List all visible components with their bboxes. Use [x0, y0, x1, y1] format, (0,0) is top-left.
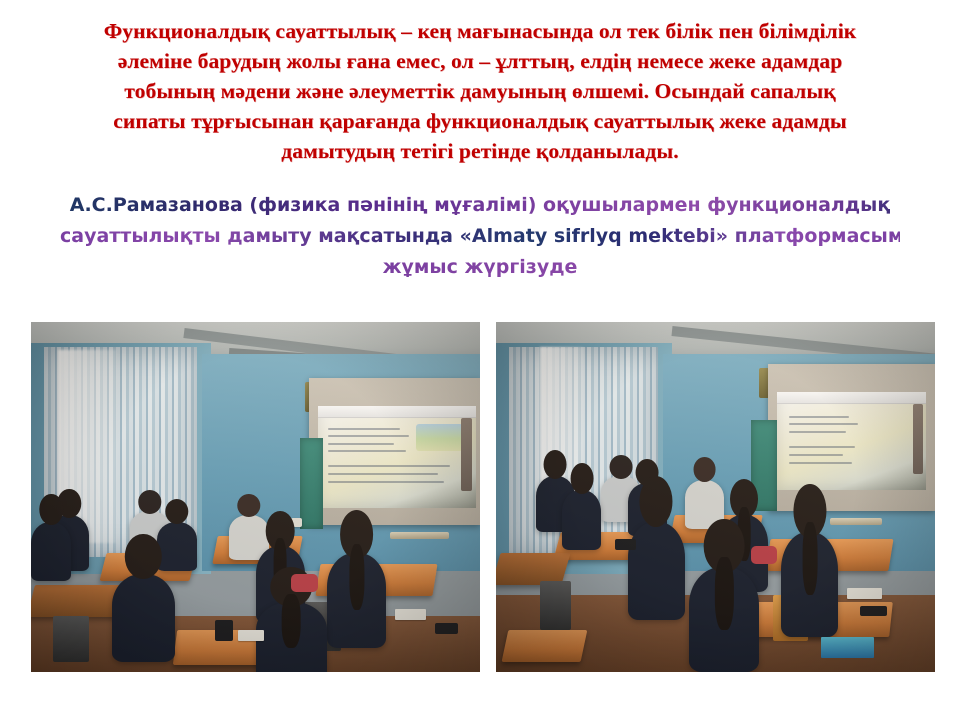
- teacher-head: [237, 494, 260, 518]
- student: [31, 522, 71, 582]
- title-line-3: тобының мәдени және әлеуметтік дамуының …: [42, 76, 918, 106]
- presentation-slide: Функционалдық сауаттылық – кең мағынасын…: [0, 0, 960, 720]
- student-head: [610, 455, 633, 479]
- classroom-photo-right: [496, 322, 935, 672]
- screen-text-line: [328, 481, 444, 483]
- screen-text-line: [789, 454, 843, 456]
- screen-text-line: [789, 423, 858, 425]
- notebook: [238, 630, 265, 641]
- student-head: [125, 534, 161, 580]
- screen-text-line: [789, 462, 852, 464]
- board-chalk-tray: [390, 532, 448, 539]
- student-desk: [501, 630, 587, 662]
- projector-screen-content: [318, 406, 475, 508]
- student-ponytail: [802, 522, 817, 596]
- title-line-5: дамытудың тетігі ретінде қолданылады.: [42, 136, 918, 166]
- screen-text-line: [328, 473, 438, 475]
- screen-text-line: [328, 428, 400, 430]
- student-ponytail: [349, 544, 364, 610]
- student: [689, 567, 759, 672]
- student-head: [570, 463, 593, 494]
- smartphone: [860, 606, 886, 617]
- student: [112, 574, 175, 662]
- slide-title: Функционалдық сауаттылық – кең мағынасын…: [42, 16, 918, 166]
- subtitle-line-2: сауаттылықты дамыту мақсатында «Almaty s…: [60, 221, 900, 252]
- notebook: [847, 588, 882, 599]
- title-line-2: әлеміне барудың жолы ғана емес, ол – ұлт…: [42, 46, 918, 76]
- student: [256, 602, 328, 672]
- slide-subtitle: А.С.Рамазанова (физика пәнінің мұғалімі)…: [60, 190, 900, 283]
- student-ponytail: [715, 557, 733, 631]
- screen-sidebar: [461, 418, 472, 491]
- notebook: [395, 609, 426, 620]
- screen-text-line: [328, 443, 394, 445]
- student-head: [544, 450, 567, 479]
- screen-text-line: [789, 446, 855, 448]
- student: [781, 532, 838, 637]
- screen-illustration: [416, 424, 463, 450]
- projector-screen-content: [777, 392, 926, 490]
- smartphone: [615, 539, 637, 550]
- book-stack: [821, 637, 874, 658]
- chair: [540, 581, 571, 630]
- subtitle-line-3: жұмыс жүргізуде: [60, 252, 900, 283]
- photo-right-scene: [496, 322, 935, 672]
- screen-text-line: [328, 435, 410, 437]
- photo-left-scene: [31, 322, 480, 672]
- student: [157, 522, 197, 571]
- backpack: [751, 546, 777, 564]
- title-line-4: сипаты тұрғысынан қарағанда функционалды…: [42, 106, 918, 136]
- classroom-photo-left: [31, 322, 480, 672]
- smartphone: [435, 623, 457, 634]
- browser-toolbar: [318, 406, 475, 418]
- student-desk: [496, 553, 571, 585]
- student-head: [640, 476, 673, 527]
- screen-sidebar: [913, 404, 923, 475]
- student-ponytail: [282, 594, 301, 648]
- screen-text-line: [328, 465, 451, 467]
- backpack: [291, 574, 318, 592]
- student-head: [138, 490, 161, 514]
- student: [562, 490, 602, 550]
- screen-text-line: [328, 450, 407, 452]
- browser-toolbar: [777, 392, 926, 404]
- smartphone: [215, 620, 233, 641]
- title-line-1: Функционалдық сауаттылық – кең мағынасын…: [42, 16, 918, 46]
- screen-text-line: [789, 431, 846, 433]
- green-chalkboard: [300, 438, 322, 529]
- student: [327, 553, 385, 648]
- student: [628, 522, 685, 620]
- board-chalk-tray: [830, 518, 883, 525]
- chair: [53, 616, 89, 662]
- screen-text-line: [789, 416, 849, 418]
- subtitle-line-1: А.С.Рамазанова (физика пәнінің мұғалімі)…: [60, 190, 900, 221]
